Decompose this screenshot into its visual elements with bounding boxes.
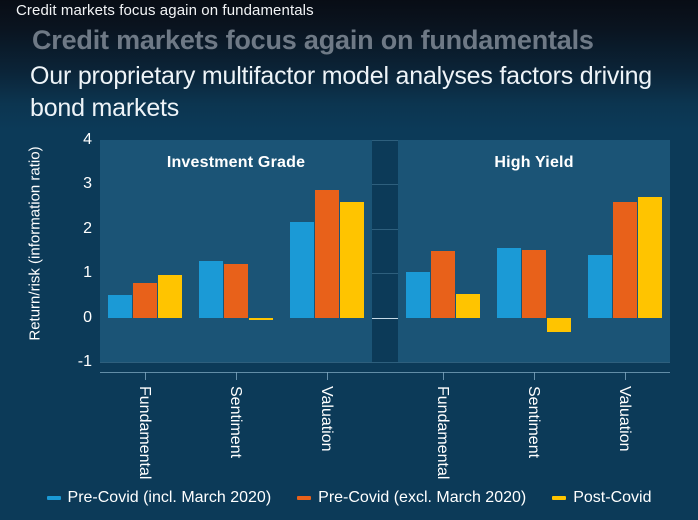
y-tick-label: 3: [52, 175, 92, 193]
bar-chart: Return/risk (information ratio) 43210-1 …: [0, 130, 698, 520]
bar: [108, 295, 132, 317]
legend-swatch-icon: [552, 496, 566, 500]
y-tick-label: 4: [52, 131, 92, 149]
slide-subtitle: Our proprietary multifactor model analys…: [30, 60, 670, 124]
bar: [340, 202, 364, 317]
legend-swatch-icon: [297, 496, 311, 500]
ghost-title: Credit markets focus again on fundamenta…: [32, 25, 594, 56]
y-tick-label: -1: [52, 353, 92, 371]
legend-item[interactable]: Pre-Covid (incl. March 2020): [47, 489, 272, 507]
bar: [638, 197, 662, 318]
bar: [290, 222, 314, 317]
bar: [588, 255, 612, 318]
legend-label: Pre-Covid (excl. March 2020): [318, 489, 526, 507]
x-axis-category-label: Valuation: [317, 386, 335, 452]
y-axis-ticks: 43210-1: [52, 140, 92, 362]
x-tick: [534, 372, 535, 380]
panel-title: High Yield: [398, 154, 670, 172]
x-axis-category-label: Sentiment: [226, 386, 244, 458]
chart-legend: Pre-Covid (incl. March 2020)Pre-Covid (e…: [0, 485, 698, 511]
y-axis-label: Return/risk (information ratio): [27, 119, 44, 369]
x-axis-category-label: Fundamental: [135, 386, 153, 479]
x-tick: [145, 372, 146, 380]
slide-root: Credit markets focus again on fundamenta…: [0, 0, 698, 520]
legend-item[interactable]: Pre-Covid (excl. March 2020): [297, 489, 526, 507]
bar: [224, 264, 248, 317]
y-tick-label: 1: [52, 264, 92, 282]
x-tick: [443, 372, 444, 380]
y-tick-label: 2: [52, 220, 92, 238]
slide-header: Credit markets focus again on fundamenta…: [0, 0, 698, 130]
bar: [613, 202, 637, 317]
bar: [431, 251, 455, 317]
y-tick-label: 0: [52, 309, 92, 327]
window-title: Credit markets focus again on fundamenta…: [16, 2, 314, 19]
bar: [133, 283, 157, 318]
plot-area: Investment GradeFundamentalSentimentValu…: [100, 140, 670, 362]
legend-label: Post-Covid: [573, 489, 651, 507]
bar: [315, 190, 339, 317]
x-axis-category-label: Fundamental: [433, 386, 451, 479]
x-tick: [625, 372, 626, 380]
bar: [522, 250, 546, 317]
x-tick: [327, 372, 328, 380]
x-axis-line: [100, 372, 670, 373]
x-tick: [236, 372, 237, 380]
bar: [199, 261, 223, 317]
bar: [406, 272, 430, 317]
x-axis-category-label: Valuation: [615, 386, 633, 452]
bar: [158, 275, 182, 318]
legend-swatch-icon: [47, 496, 61, 500]
bar: [456, 294, 480, 318]
legend-label: Pre-Covid (incl. March 2020): [68, 489, 272, 507]
panel-title: Investment Grade: [100, 154, 372, 172]
gridline: [100, 362, 670, 363]
x-axis-category-label: Sentiment: [524, 386, 542, 458]
bar: [249, 318, 273, 320]
bar: [547, 318, 571, 332]
bar: [497, 248, 521, 317]
legend-item[interactable]: Post-Covid: [552, 489, 651, 507]
